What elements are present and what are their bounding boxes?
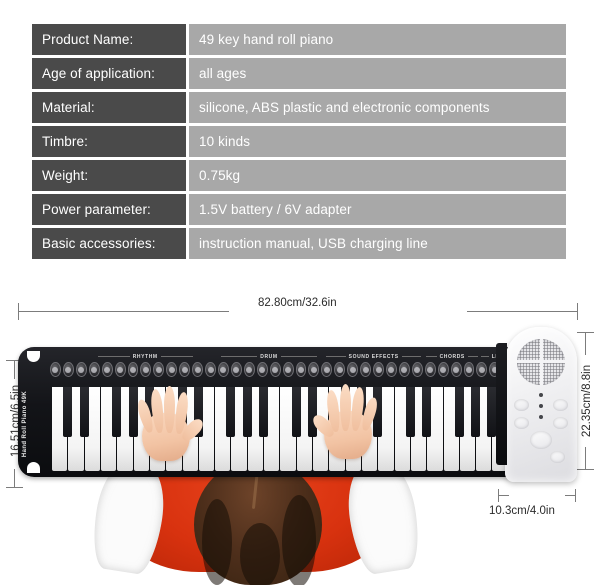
button-glyph-icon: [169, 367, 175, 373]
control-button[interactable]: [179, 362, 190, 377]
button-glyph-icon: [220, 367, 226, 373]
control-button[interactable]: [63, 362, 74, 377]
control-button[interactable]: [283, 362, 294, 377]
control-button[interactable]: [321, 362, 332, 377]
section-label-drum: DRUM: [221, 352, 316, 361]
button-glyph-icon: [311, 367, 317, 373]
dimension-bar-right: [467, 311, 577, 312]
button-glyph-icon: [324, 367, 330, 373]
control-button[interactable]: [386, 362, 397, 377]
rule: [281, 356, 317, 357]
button-glyph-icon: [91, 367, 97, 373]
spec-label: Weight:: [32, 160, 186, 191]
rule: [481, 356, 489, 357]
control-button[interactable]: [115, 362, 126, 377]
section-label-sound-effects: SOUND EFFECTS: [326, 352, 421, 361]
white-key[interactable]: [378, 387, 393, 471]
rule: [426, 356, 437, 357]
hair-strand: [240, 523, 280, 585]
button-glyph-icon: [479, 367, 485, 373]
spec-label: Product Name:: [32, 24, 186, 55]
button-glyph-icon: [130, 367, 136, 373]
button-glyph-icon: [272, 367, 278, 373]
control-button-row[interactable]: [50, 362, 526, 377]
button-glyph-icon: [246, 367, 252, 373]
section-name: SOUND EFFECTS: [349, 354, 399, 360]
spec-label: Basic accessories:: [32, 228, 186, 259]
spec-value: instruction manual, USB charging line: [189, 228, 566, 259]
hair-strand: [202, 499, 232, 585]
button-glyph-icon: [259, 367, 265, 373]
white-key[interactable]: [476, 387, 491, 471]
rule: [161, 356, 193, 357]
white-key[interactable]: [117, 387, 132, 471]
white-key[interactable]: [85, 387, 100, 471]
white-key[interactable]: [395, 387, 410, 471]
button-glyph-icon: [453, 367, 459, 373]
control-button[interactable]: [373, 362, 384, 377]
dimension-bar-left: [19, 311, 229, 312]
speaker-grille-icon: [517, 339, 565, 385]
piano-notch-bottom: [27, 462, 40, 473]
white-key[interactable]: [411, 387, 426, 471]
white-key[interactable]: [231, 387, 246, 471]
button-glyph-icon: [401, 367, 407, 373]
control-button[interactable]: [451, 362, 462, 377]
control-button[interactable]: [76, 362, 87, 377]
child-head: [194, 459, 322, 585]
button-glyph-icon: [52, 367, 58, 373]
roll-piano-body: Hand Roll Piano 49K RHYTHM DRUM SOUND EF…: [18, 347, 530, 477]
table-row: Timbre: 10 kinds: [32, 126, 566, 157]
spec-value: 0.75kg: [189, 160, 566, 191]
white-key[interactable]: [280, 387, 295, 471]
control-button[interactable]: [218, 362, 229, 377]
section-name: DRUM: [260, 354, 277, 360]
white-key[interactable]: [297, 387, 312, 471]
control-button[interactable]: [89, 362, 100, 377]
button-glyph-icon: [298, 367, 304, 373]
led-indicator: [539, 393, 543, 397]
button-glyph-icon: [376, 367, 382, 373]
control-button[interactable]: [166, 362, 177, 377]
button-glyph-icon: [440, 367, 446, 373]
control-button[interactable]: [192, 362, 203, 377]
control-section-labels: RHYTHM DRUM SOUND EFFECTS CHORDS: [50, 352, 526, 361]
control-button[interactable]: [425, 362, 436, 377]
control-button[interactable]: [334, 362, 345, 377]
spec-label: Timbre:: [32, 126, 186, 157]
module-button[interactable]: [553, 417, 568, 429]
control-button[interactable]: [399, 362, 410, 377]
table-row: Material: silicone, ABS plastic and elec…: [32, 92, 566, 123]
module-hinge-edge: [496, 343, 507, 465]
module-button[interactable]: [514, 417, 529, 429]
white-key[interactable]: [460, 387, 475, 471]
rule: [402, 356, 422, 357]
button-glyph-icon: [233, 367, 239, 373]
table-row: Weight: 0.75kg: [32, 160, 566, 191]
button-glyph-icon: [117, 367, 123, 373]
control-button[interactable]: [464, 362, 475, 377]
rule: [221, 356, 257, 357]
button-glyph-icon: [466, 367, 472, 373]
control-panel: RHYTHM DRUM SOUND EFFECTS CHORDS: [50, 351, 526, 385]
control-button[interactable]: [102, 362, 113, 377]
spec-value: silicone, ABS plastic and electronic com…: [189, 92, 566, 123]
white-key[interactable]: [427, 387, 442, 471]
piano-notch-top: [27, 351, 40, 362]
white-key[interactable]: [101, 387, 116, 471]
specification-table: Product Name: 49 key hand roll piano Age…: [32, 24, 566, 259]
button-glyph-icon: [156, 367, 162, 373]
rule: [468, 356, 479, 357]
control-button[interactable]: [347, 362, 358, 377]
control-button[interactable]: [50, 362, 61, 377]
width-dimension-label: 82.80cm/32.6in: [258, 297, 337, 309]
module-button[interactable]: [550, 451, 565, 463]
piano-brand-label: Hand Roll Piano 49K: [22, 387, 36, 461]
button-glyph-icon: [414, 367, 420, 373]
control-button[interactable]: [360, 362, 371, 377]
piano-keyboard[interactable]: [52, 387, 524, 471]
table-row: Product Name: 49 key hand roll piano: [32, 24, 566, 55]
hair-strand: [282, 495, 316, 585]
white-key[interactable]: [264, 387, 279, 471]
control-button[interactable]: [244, 362, 255, 377]
led-indicator: [539, 404, 543, 408]
button-glyph-icon: [78, 367, 84, 373]
spec-value: 10 kinds: [189, 126, 566, 157]
control-button[interactable]: [231, 362, 242, 377]
control-button[interactable]: [412, 362, 423, 377]
white-key[interactable]: [215, 387, 230, 471]
dimension-cap-right: [577, 303, 578, 320]
button-glyph-icon: [182, 367, 188, 373]
right-hand: [318, 381, 380, 459]
rule: [98, 356, 130, 357]
control-button[interactable]: [296, 362, 307, 377]
control-button[interactable]: [308, 362, 319, 377]
speaker-control-module[interactable]: [505, 327, 577, 482]
button-glyph-icon: [65, 367, 71, 373]
spec-label: Age of application:: [32, 58, 186, 89]
led-indicator: [539, 415, 543, 419]
product-photo: Hand Roll Piano 49K RHYTHM DRUM SOUND EF…: [0, 322, 600, 585]
spec-label: Material:: [32, 92, 186, 123]
control-button[interactable]: [257, 362, 268, 377]
control-button[interactable]: [270, 362, 281, 377]
button-glyph-icon: [388, 367, 394, 373]
control-button[interactable]: [438, 362, 449, 377]
section-label-chords: CHORDS: [426, 352, 478, 361]
spec-value: 49 key hand roll piano: [189, 24, 566, 55]
white-key[interactable]: [52, 387, 67, 471]
button-glyph-icon: [337, 367, 343, 373]
button-glyph-icon: [104, 367, 110, 373]
spec-label: Power parameter:: [32, 194, 186, 225]
spec-value: all ages: [189, 58, 566, 89]
rule: [326, 356, 346, 357]
module-button[interactable]: [553, 399, 568, 411]
button-glyph-icon: [143, 367, 149, 373]
section-label-rhythm: RHYTHM: [98, 352, 193, 361]
finger: [164, 386, 175, 433]
control-button[interactable]: [153, 362, 164, 377]
control-button[interactable]: [140, 362, 151, 377]
button-glyph-icon: [195, 367, 201, 373]
white-key[interactable]: [444, 387, 459, 471]
module-button[interactable]: [514, 399, 529, 411]
white-key[interactable]: [68, 387, 83, 471]
left-hand: [136, 383, 198, 461]
button-glyph-icon: [350, 367, 356, 373]
finger: [340, 384, 351, 431]
white-key[interactable]: [248, 387, 263, 471]
section-name: RHYTHM: [133, 354, 158, 360]
table-row: Basic accessories: instruction manual, U…: [32, 228, 566, 259]
button-glyph-icon: [285, 367, 291, 373]
control-button[interactable]: [128, 362, 139, 377]
table-row: Power parameter: 1.5V battery / 6V adapt…: [32, 194, 566, 225]
module-button-main[interactable]: [530, 431, 552, 449]
button-glyph-icon: [427, 367, 433, 373]
grille-divider-horizontal: [517, 360, 565, 363]
control-button[interactable]: [476, 362, 487, 377]
table-row: Age of application: all ages: [32, 58, 566, 89]
control-button[interactable]: [205, 362, 216, 377]
button-glyph-icon: [208, 367, 214, 373]
spec-value: 1.5V battery / 6V adapter: [189, 194, 566, 225]
section-name: CHORDS: [440, 354, 465, 360]
button-glyph-icon: [363, 367, 369, 373]
